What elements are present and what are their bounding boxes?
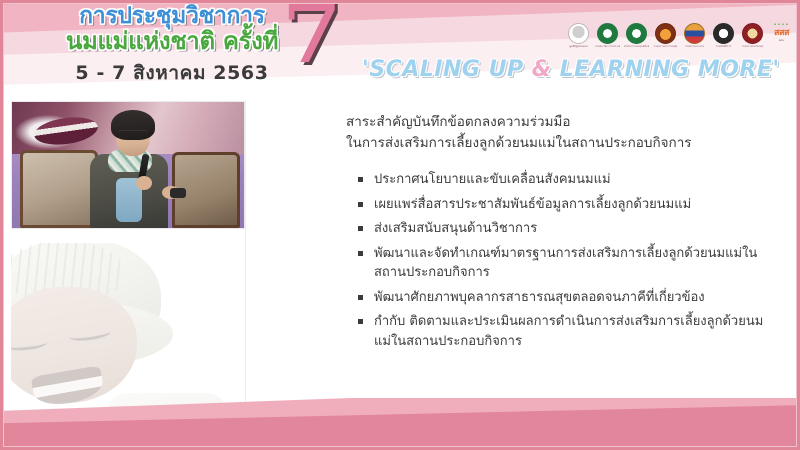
list-item: พัฒนาและจัดทำเกณฑ์มาตรฐานการส่งเสริมการเ… <box>358 244 768 283</box>
presenter-remote <box>170 188 186 198</box>
slide-content: สาระสำคัญบันทึกข้อตกลงความร่วมมือ ในการส… <box>258 100 778 400</box>
logo-caption: กระทรวงสาธารณสุข <box>653 45 678 48</box>
conference-date: 5 - 7 สิงหาคม 2563 <box>22 58 322 88</box>
content-bullet-list: ประกาศนโยบายและขับเคลื่อนสังคมนมแม่ เผยแ… <box>358 170 768 356</box>
red-seal-logo: กระทรวงมหาดไทย <box>740 23 765 54</box>
thai-flag-garuda-icon <box>684 23 705 44</box>
tagline-part-after: LEARNING MORE' <box>551 57 779 82</box>
logo-caption: กรมอนามัย กระทรวงสาธารณสุข <box>595 45 620 48</box>
logo-caption: กรมสวัสดิการ <box>711 45 736 48</box>
tagline-part-before: 'SCALING UP <box>362 57 532 82</box>
speaker-hand-holding-mic <box>136 176 152 190</box>
public-health-green-logo: กรมอนามัย กระทรวงสาธารณสุข <box>595 23 620 54</box>
conference-title-line1: การประชุมวิชาการ <box>22 2 322 30</box>
list-item: พัฒนาศักยภาพบุคลากรสาธารณสุขตลอดจนภาคีที… <box>358 288 768 308</box>
sss-logo: •••• สสส สสส. <box>769 23 794 54</box>
sss-wordmark: สสส <box>774 28 789 38</box>
conference-title-block: การประชุมวิชาการ นมแม่แห่งชาติ ครั้งที่ … <box>22 2 322 88</box>
armchair-left <box>20 150 98 228</box>
logo-caption: กระทรวงมหาดไทย <box>740 45 765 48</box>
speaker-video-frame[interactable] <box>11 101 245 229</box>
column-divider <box>245 100 246 418</box>
list-item: กำกับ ติดตามและประเมินผลการดำเนินการส่งเ… <box>358 312 768 351</box>
tagline-ampersand: & <box>532 57 552 82</box>
lead-line-2: ในการส่งเสริมการเลี้ยงลูกด้วยนมแม่ในสถาน… <box>346 133 766 154</box>
list-item: ประกาศนโยบายและขับเคลื่อนสังคมนมแม่ <box>358 170 768 190</box>
health-dept-green-icon <box>626 23 647 44</box>
logo-caption: มูลนิธิศูนย์นมแม่ <box>566 45 591 48</box>
red-seal-icon <box>742 23 763 44</box>
ministry-orange-icon <box>655 23 676 44</box>
black-seal-logo: กรมสวัสดิการ <box>711 23 736 54</box>
logo-caption: กระทรวงแรงงาน <box>682 45 707 48</box>
media-column <box>11 97 245 440</box>
logo-caption: สสส. <box>769 39 794 42</box>
slide-header-banner: การประชุมวิชาการ นมแม่แห่งชาติ ครั้งที่ … <box>0 0 800 97</box>
list-item: ส่งเสริมสนับสนุนด้านวิชาการ <box>358 219 768 239</box>
slide-footer-banner <box>0 398 800 450</box>
conference-title-line2: นมแม่แห่งชาติ ครั้งที่ <box>22 27 322 56</box>
logo-caption: สำนักงานกองทุนสนับสนุน <box>624 45 649 48</box>
edition-number: 7 <box>282 0 342 76</box>
health-dept-green-logo: สำนักงานกองทุนสนับสนุน <box>624 23 649 54</box>
royal-emblem-icon <box>568 23 589 44</box>
conference-tagline: 'SCALING UP & LEARNING MORE' <box>362 57 780 82</box>
presentation-slide: การประชุมวิชาการ นมแม่แห่งชาติ ครั้งที่ … <box>0 0 800 450</box>
royal-emblem-logo: มูลนิธิศูนย์นมแม่ <box>566 23 591 54</box>
black-seal-icon <box>713 23 734 44</box>
list-item: เผยแพร่สื่อสารประชาสัมพันธ์ข้อมูลการเลี้… <box>358 195 768 215</box>
speaker-glasses <box>118 130 148 138</box>
lead-line-1: สาระสำคัญบันทึกข้อตกลงความร่วมมือ <box>346 112 766 133</box>
sponsor-logo-strip: มูลนิธิศูนย์นมแม่ กรมอนามัย กระทรวงสาธาร… <box>566 21 794 55</box>
thai-flag-garuda-logo: กระทรวงแรงงาน <box>682 23 707 54</box>
ministry-orange-logo: กระทรวงสาธารณสุข <box>653 23 678 54</box>
public-health-green-icon <box>597 23 618 44</box>
content-lead-heading: สาระสำคัญบันทึกข้อตกลงความร่วมมือ ในการส… <box>346 112 766 154</box>
